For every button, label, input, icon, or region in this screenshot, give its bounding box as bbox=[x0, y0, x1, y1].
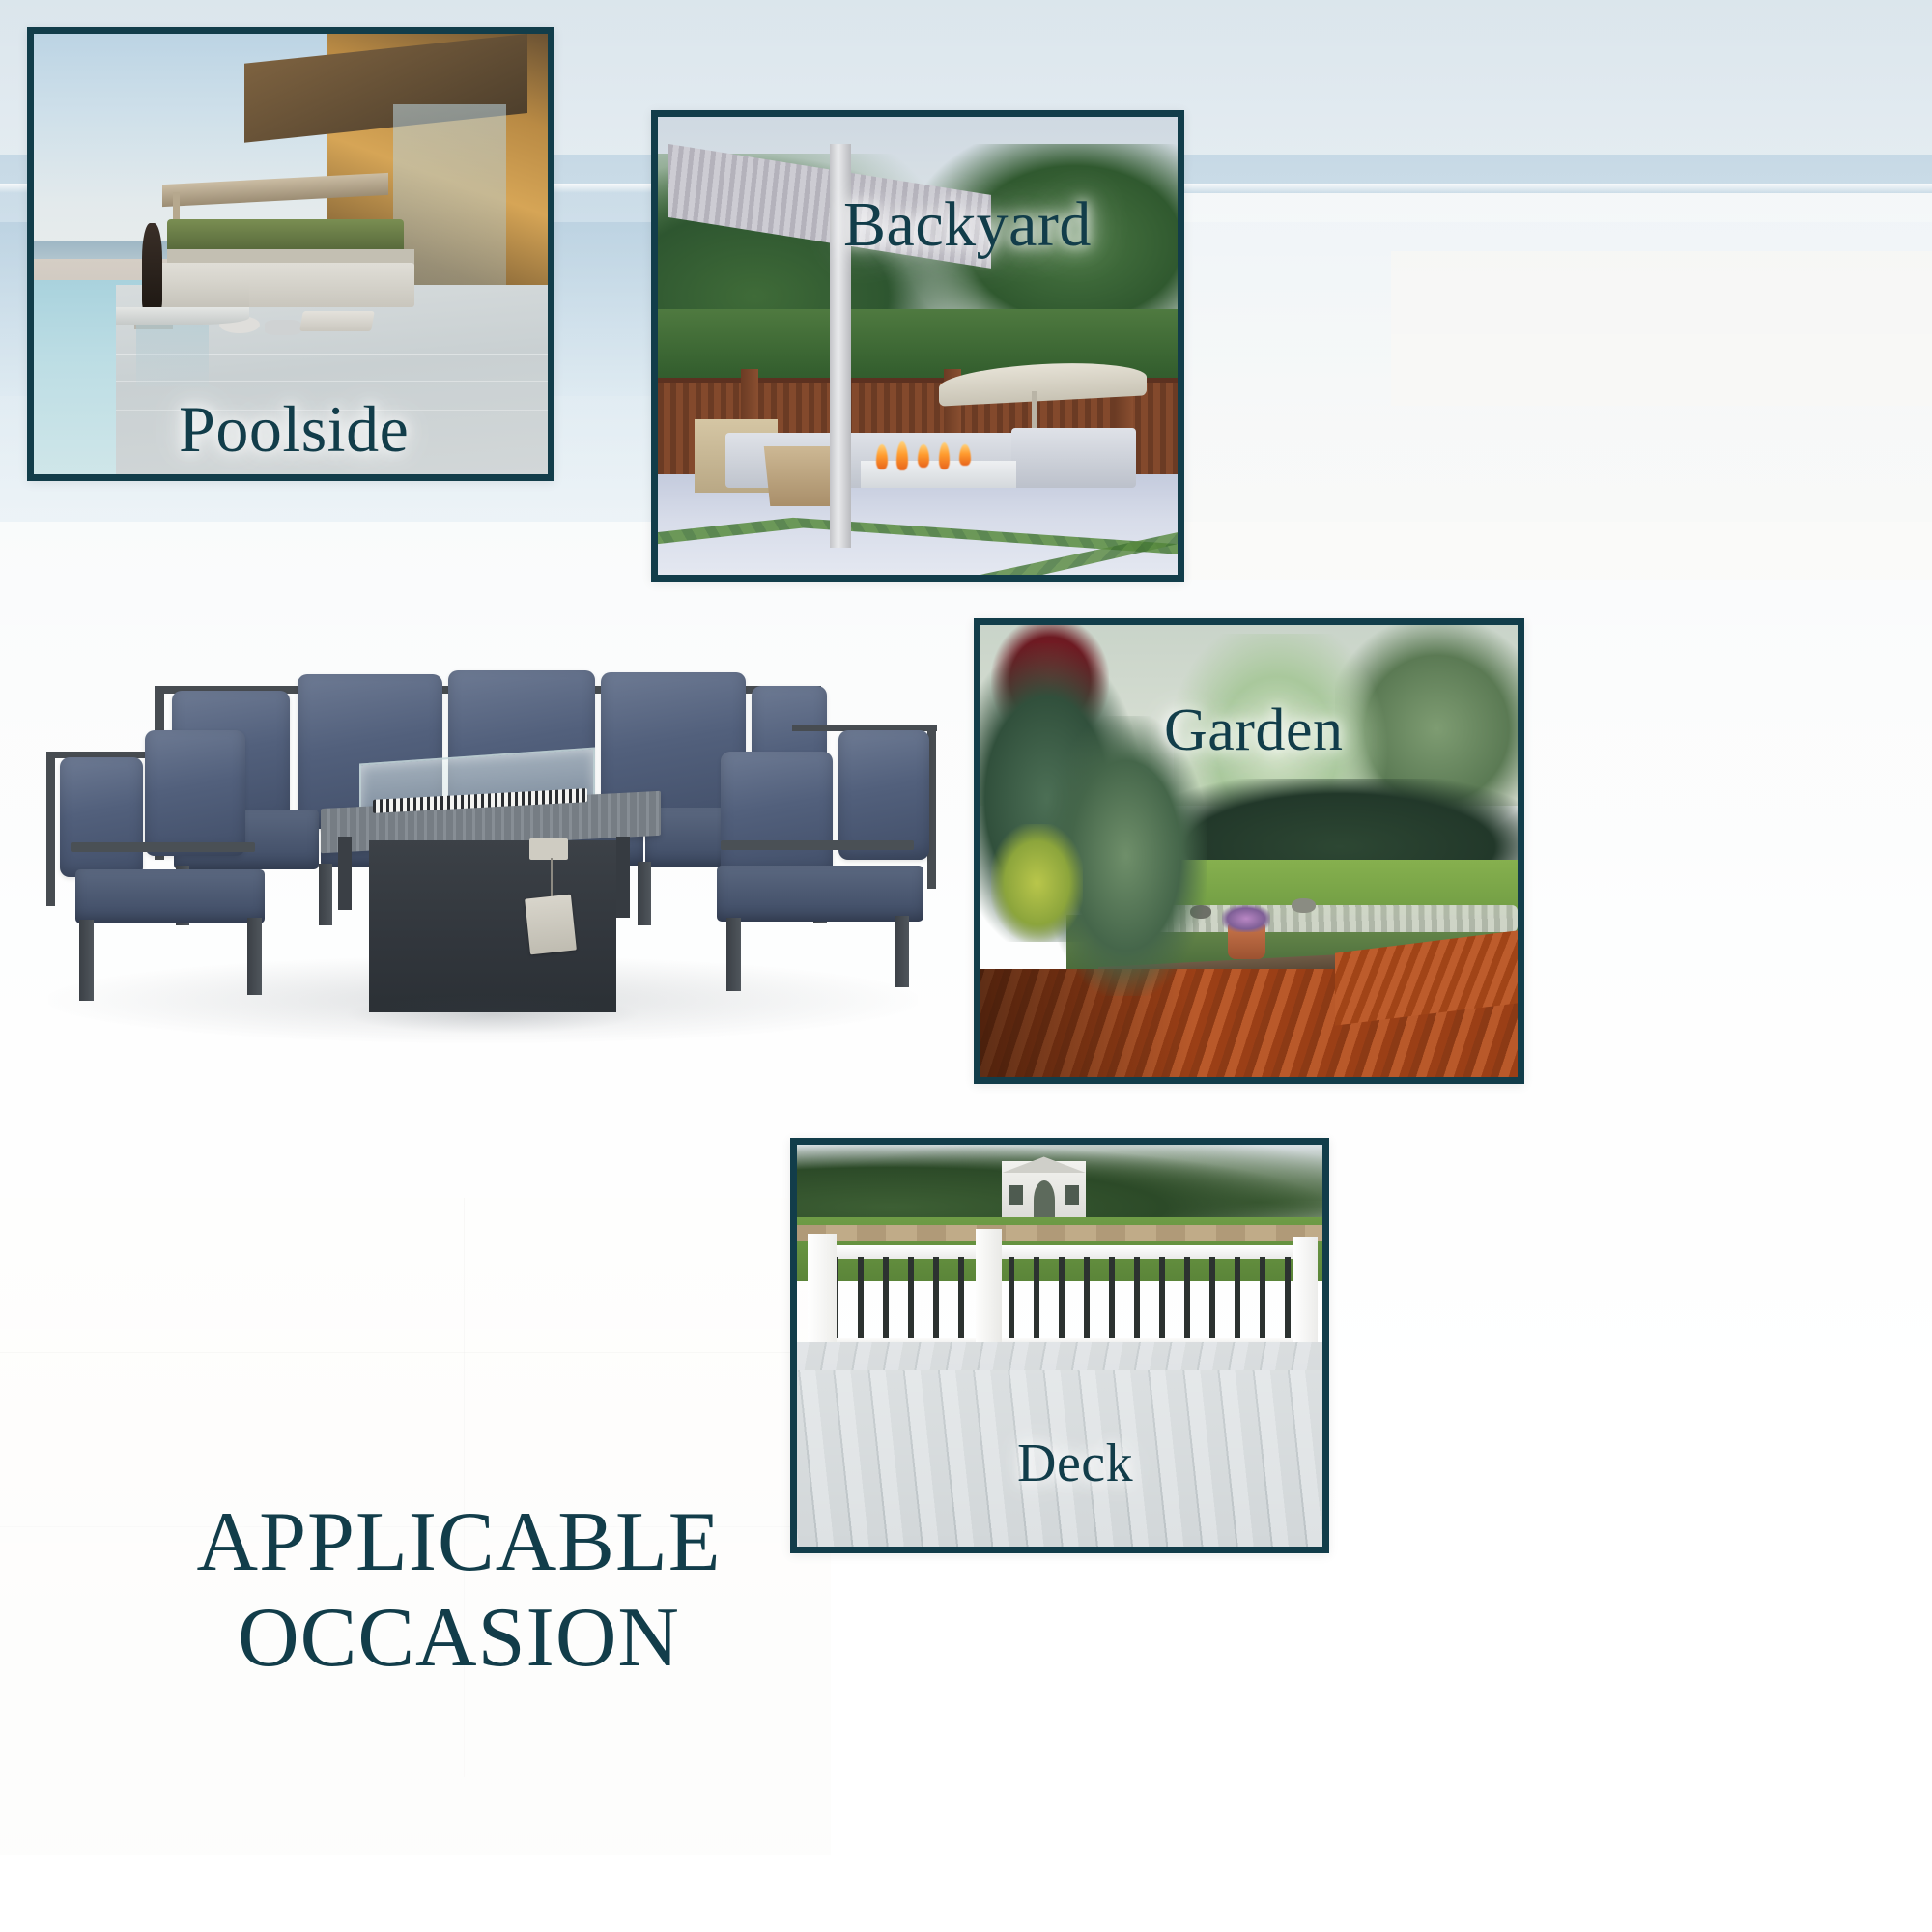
left-chair-frame-outer bbox=[46, 752, 55, 906]
product-furniture-set bbox=[29, 638, 956, 1072]
sofa-leg-2 bbox=[319, 864, 332, 925]
panel-caption-deck: Deck bbox=[1017, 1433, 1133, 1494]
panel-caption-garden: Garden bbox=[1164, 696, 1343, 765]
panel-caption-backyard: Backyard bbox=[843, 188, 1092, 262]
sofa-leg-3 bbox=[638, 862, 651, 925]
headline-line-1: APPLICABLE bbox=[197, 1495, 722, 1589]
occasion-panel-deck[interactable]: Deck bbox=[790, 1138, 1329, 1553]
left-chair-leg-1 bbox=[79, 920, 94, 1001]
left-chair-armrest bbox=[71, 842, 255, 852]
fire-table-body bbox=[369, 840, 616, 1012]
page-title: APPLICABLE OCCASION bbox=[126, 1495, 792, 1686]
occasion-panel-backyard[interactable]: Backyard bbox=[651, 110, 1184, 582]
fire-table-shadow bbox=[348, 995, 638, 1034]
right-chair-side-cushion bbox=[721, 752, 833, 875]
right-chair-leg-2 bbox=[895, 916, 909, 987]
marketing-infographic: Poolside bbox=[0, 0, 1932, 1932]
fire-table-control-knob-plate[interactable] bbox=[529, 838, 568, 860]
fire-table-leg-left bbox=[338, 837, 352, 910]
right-chair-seat bbox=[717, 866, 923, 922]
left-chair-back-cushion bbox=[60, 757, 143, 877]
right-chair-leg-1 bbox=[726, 918, 741, 991]
occasion-panel-poolside[interactable]: Poolside bbox=[27, 27, 554, 481]
left-chair-seat bbox=[75, 869, 265, 923]
product-hang-tag bbox=[525, 895, 577, 955]
left-chair-leg-2 bbox=[247, 918, 262, 995]
left-chair-side-cushion bbox=[145, 730, 245, 856]
panel-caption-poolside: Poolside bbox=[179, 391, 409, 468]
headline-line-2: OCCASION bbox=[126, 1591, 792, 1687]
garden-photo bbox=[980, 625, 1518, 1077]
occasion-panel-garden[interactable]: Garden bbox=[974, 618, 1524, 1084]
backyard-photo bbox=[658, 117, 1178, 575]
hang-tag-string bbox=[551, 858, 553, 898]
fire-table-leg-right bbox=[616, 837, 630, 918]
right-chair-armrest bbox=[721, 840, 914, 850]
